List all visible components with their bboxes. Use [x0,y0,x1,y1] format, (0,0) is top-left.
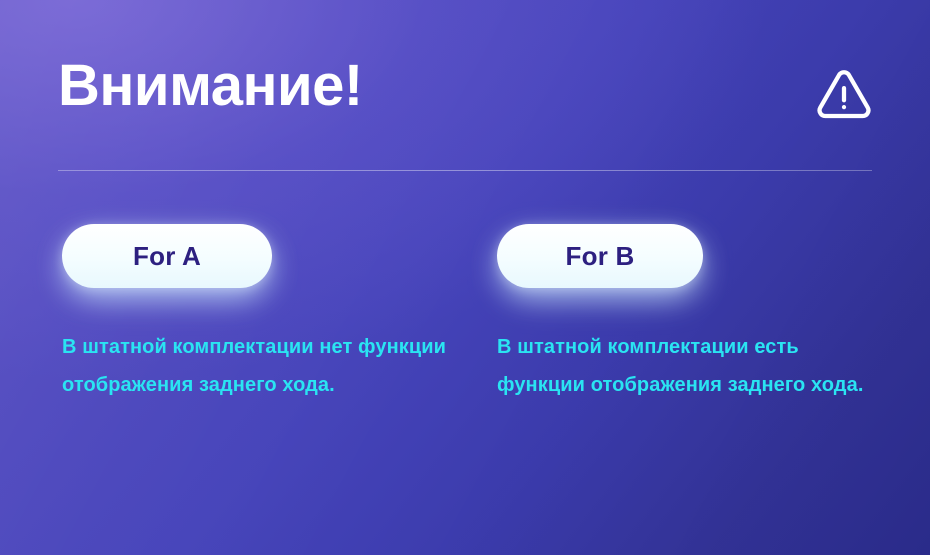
for-b-button[interactable]: For B [497,224,703,288]
button-for-b-wrapper: For B [497,224,897,288]
for-a-button[interactable]: For A [62,224,272,288]
page-title: Внимание! [58,54,363,118]
for-a-description: В штатной комплектации нет функции отобр… [62,288,447,404]
warning-triangle-icon [813,63,875,125]
slide-content: Внимание! For A В штатной комплектации н… [0,0,930,555]
button-for-a-wrapper: For A [62,224,462,288]
header-divider [58,170,872,171]
column-for-a: For A В штатной комплектации нет функции… [62,224,462,404]
column-for-b: For B В штатной комплектации есть функци… [497,224,897,404]
warning-slide: Внимание! For A В штатной комплектации н… [0,0,930,555]
for-b-description: В штатной комплектации есть функции отоб… [497,288,882,404]
